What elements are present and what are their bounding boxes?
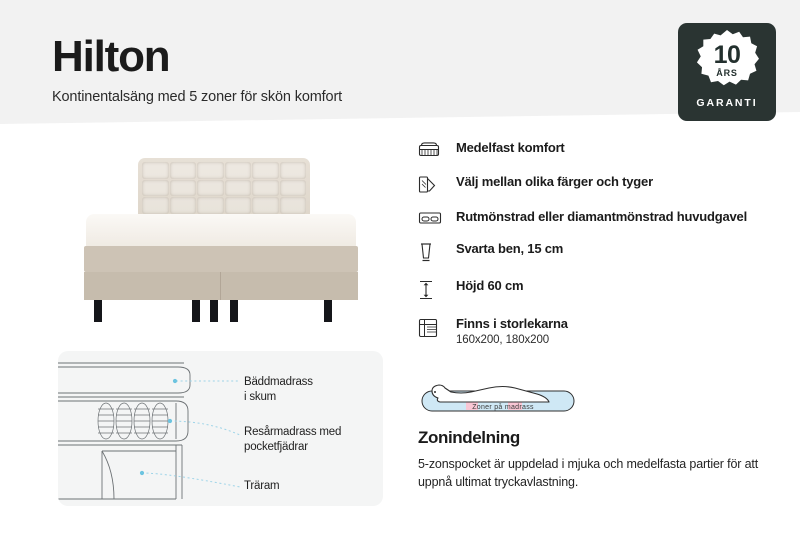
feature-label: Svarta ben, 15 cm [456,241,563,257]
bed-leg [324,300,332,322]
feature-text: Välj mellan olika färger och tyger [446,174,653,190]
feature-item-headboard: Rutmönstrad eller diamantmönstrad huvudg… [418,209,778,226]
starburst-icon: 10 ÅRS [695,30,759,90]
feature-item-fabrics: Välj mellan olika färger och tyger [418,174,778,195]
warranty-badge: 10 ÅRS GARANTI [678,23,776,121]
mattress-firmness-icon [418,140,446,159]
bed-leg [210,300,218,322]
page-title: Hilton [52,34,342,80]
zone-heading: Zonindelning [418,428,763,448]
bed-size-icon [418,316,446,339]
feature-text: Svarta ben, 15 cm [446,241,563,257]
warranty-years-unit: ÅRS [716,68,737,78]
feature-label: Finns i storlekarna [456,316,568,332]
bed-leg-icon [418,241,446,264]
height-arrow-icon [418,278,446,301]
cutaway-label-foam: Bäddmadrass i skum [244,375,313,404]
bed-leg [192,300,200,322]
bed-leg [94,300,102,322]
bed-base-upper [84,246,358,272]
feature-text: Medelfast komfort [446,140,565,156]
zone-body-text: 5-zonspocket är uppdelad i mjuka och med… [418,455,763,491]
cutaway-label-frame: Träram [244,479,279,494]
cutaway-label-springs: Resårmadrass med pocketfjädrar [244,425,341,454]
zone-illustration-caption: Zoner på madrass [418,404,588,411]
feature-label: Välj mellan olika färger och tyger [456,174,653,190]
fabric-swatch-icon [418,174,446,195]
page-subtitle: Kontinentalsäng med 5 zoner för skön kom… [52,89,342,105]
bed-product-image [62,142,362,332]
feature-item-sizes: Finns i storlekarna 160x200, 180x200 [418,316,778,346]
feature-sublabel: 160x200, 180x200 [456,334,568,346]
warranty-label: GARANTI [696,97,757,109]
feature-text: Höjd 60 cm [446,278,523,294]
bed-base-lower [84,272,358,300]
feature-text: Rutmönstrad eller diamantmönstrad huvudg… [446,209,747,225]
feature-item-legs: Svarta ben, 15 cm [418,241,778,264]
bed-headboard [138,158,310,218]
bed-leg [230,300,238,322]
cutaway-diagram-panel: Bäddmadrass i skum Resårmadrass med pock… [58,351,383,506]
feature-label: Medelfast komfort [456,140,565,156]
headboard-tufting [142,162,306,214]
feature-list: Medelfast komfort Välj mellan olika färg… [418,140,778,360]
feature-item-height: Höjd 60 cm [418,278,778,301]
feature-item-firmness: Medelfast komfort [418,140,778,159]
feature-text: Finns i storlekarna 160x200, 180x200 [446,316,568,346]
feature-label: Höjd 60 cm [456,278,523,294]
bed-base-divider [220,272,221,300]
feature-label: Rutmönstrad eller diamantmönstrad huvudg… [456,209,747,225]
title-block: Hilton Kontinentalsäng med 5 zoner för s… [52,34,342,105]
headboard-icon [418,209,446,226]
zone-description-block: Zonindelning 5-zonspocket är uppdelad i … [418,428,763,491]
bed-top-mattress [86,214,356,248]
warranty-years-number: 10 [714,44,741,68]
